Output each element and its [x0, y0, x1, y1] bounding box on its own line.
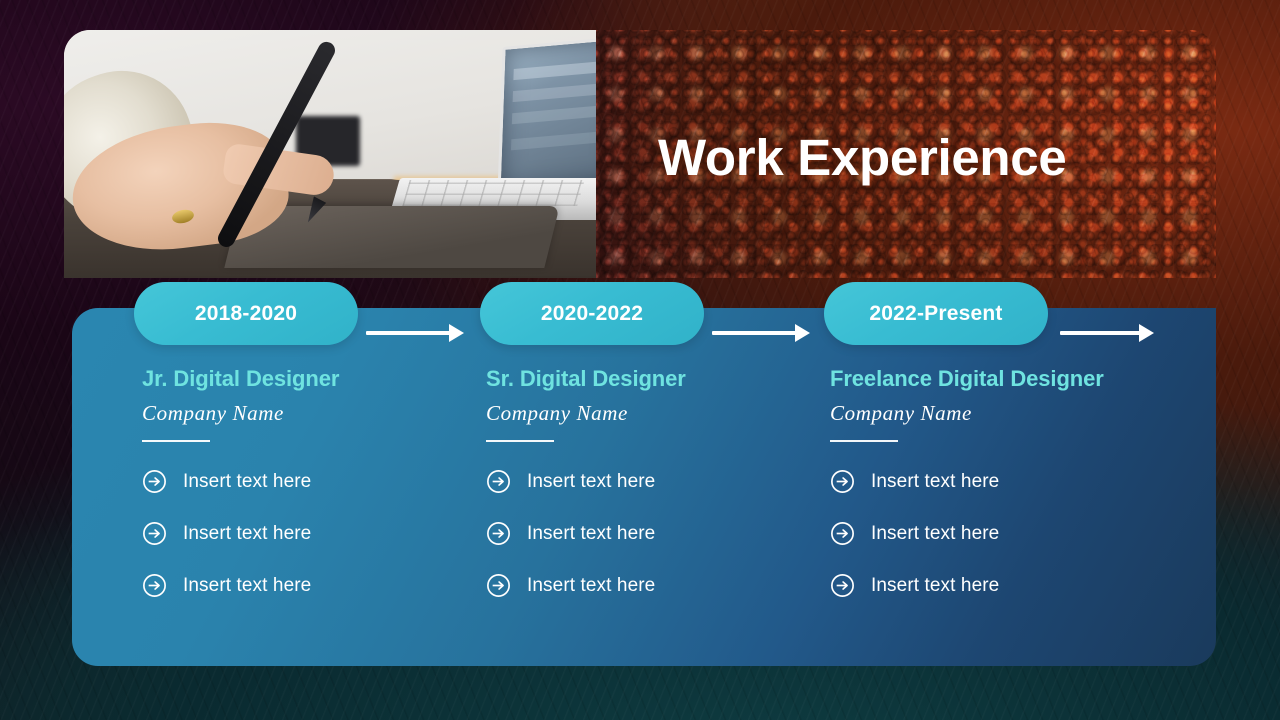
bullet-text: Insert text here	[183, 523, 311, 545]
column-divider	[830, 440, 898, 442]
bullet-text: Insert text here	[871, 523, 999, 545]
bullet-text: Insert text here	[527, 471, 655, 493]
arrow-right-circle-icon	[486, 573, 511, 598]
list-item: Insert text here	[142, 573, 482, 598]
column-divider	[486, 440, 554, 442]
experience-column-1: Jr. Digital Designer Company Name Insert…	[142, 366, 482, 625]
bullet-text: Insert text here	[527, 523, 655, 545]
job-role-title: Sr. Digital Designer	[486, 366, 826, 392]
bullet-list: Insert text here Insert text here	[830, 469, 1170, 598]
company-name: Company Name	[830, 401, 1170, 426]
column-divider	[142, 440, 210, 442]
list-item: Insert text here	[830, 469, 1170, 494]
experience-columns: Jr. Digital Designer Company Name Insert…	[64, 30, 1216, 666]
bullet-text: Insert text here	[527, 575, 655, 597]
arrow-right-circle-icon	[486, 469, 511, 494]
arrow-right-circle-icon	[142, 573, 167, 598]
experience-column-2: Sr. Digital Designer Company Name Insert…	[486, 366, 826, 625]
company-name: Company Name	[486, 401, 826, 426]
bullet-text: Insert text here	[183, 575, 311, 597]
arrow-right-circle-icon	[142, 521, 167, 546]
bullet-text: Insert text here	[871, 575, 999, 597]
arrow-right-circle-icon	[830, 469, 855, 494]
arrow-right-circle-icon	[142, 469, 167, 494]
bullet-list: Insert text here Insert text here	[142, 469, 482, 598]
list-item: Insert text here	[486, 469, 826, 494]
list-item: Insert text here	[486, 573, 826, 598]
bullet-list: Insert text here Insert text here	[486, 469, 826, 598]
job-role-title: Freelance Digital Designer	[830, 366, 1170, 392]
slide-backdrop: Work Experience 2018-2020 2020-2022 2022…	[0, 0, 1280, 720]
list-item: Insert text here	[830, 521, 1170, 546]
list-item: Insert text here	[830, 573, 1170, 598]
experience-column-3: Freelance Digital Designer Company Name …	[830, 366, 1170, 625]
list-item: Insert text here	[142, 469, 482, 494]
bullet-text: Insert text here	[871, 471, 999, 493]
company-name: Company Name	[142, 401, 482, 426]
arrow-right-circle-icon	[486, 521, 511, 546]
list-item: Insert text here	[142, 521, 482, 546]
slide-card: Work Experience 2018-2020 2020-2022 2022…	[64, 30, 1216, 666]
job-role-title: Jr. Digital Designer	[142, 366, 482, 392]
arrow-right-circle-icon	[830, 573, 855, 598]
list-item: Insert text here	[486, 521, 826, 546]
bullet-text: Insert text here	[183, 471, 311, 493]
arrow-right-circle-icon	[830, 521, 855, 546]
